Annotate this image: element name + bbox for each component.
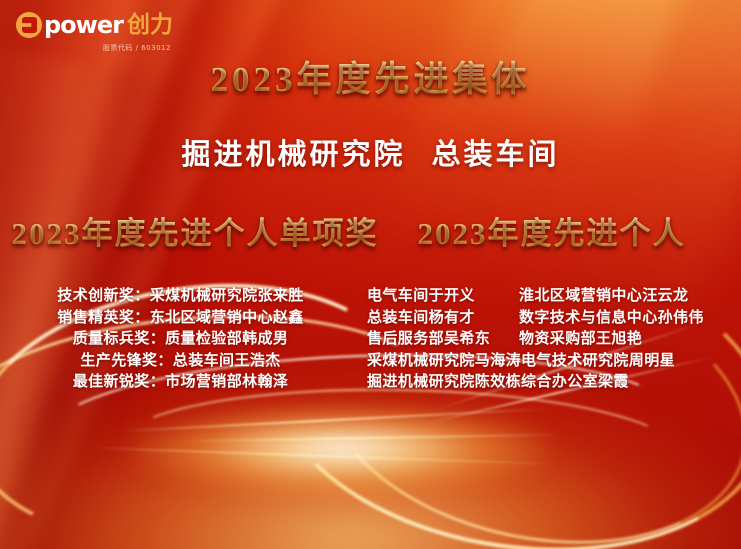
list-item: 质量标兵奖：质量检验部韩成男: [6, 329, 355, 351]
list-item-right: 物资采购部王旭艳: [519, 329, 711, 351]
list-item-left: 总装车间杨有才: [367, 308, 519, 330]
collective-winners: 掘进机械研究院总装车间: [0, 138, 741, 173]
list-item-right: 综合办公室梁霞: [521, 372, 711, 394]
award-poster: power 创力 股票代码 / 603012 2023年度先进集体 掘进机械研究…: [0, 0, 741, 549]
poster-content: 2023年度先进集体 掘进机械研究院总装车间 2023年度先进个人单项奖 202…: [0, 0, 741, 549]
list-item: 电气车间于开义 淮北区域营销中心汪云龙: [367, 286, 711, 308]
left-section-heading-text: 2023年度先进个人单项奖: [12, 216, 379, 251]
logo-wordmark-row: power 创力: [16, 12, 173, 38]
main-title: 2023年度先进集体: [0, 62, 741, 97]
stock-code: 股票代码 / 603012: [103, 43, 171, 53]
collective-winner-2: 总装车间: [432, 139, 560, 171]
main-title-text: 2023年度先进集体: [210, 60, 530, 99]
company-logo: power 创力 股票代码 / 603012: [16, 12, 173, 53]
right-section-heading: 2023年度先进个人: [390, 218, 741, 249]
c-power-mark-icon: [16, 12, 42, 38]
right-section-heading-text: 2023年度先进个人: [418, 216, 686, 251]
list-item-right: 数字技术与信息中心孙伟伟: [519, 308, 711, 330]
list-item: 最佳新锐奖：市场营销部林翰泽: [6, 372, 355, 394]
list-item-right: 淮北区域营销中心汪云龙: [519, 286, 711, 308]
list-item-left: 采煤机械研究院马海涛: [367, 351, 521, 373]
list-item: 售后服务部吴希东 物资采购部王旭艳: [367, 329, 711, 351]
list-item: 掘进机械研究院陈效栋 综合办公室梁霞: [367, 372, 711, 394]
list-item-left: 售后服务部吴希东: [367, 329, 519, 351]
list-item: 销售精英奖：东北区域营销中心赵鑫: [6, 308, 355, 330]
left-section-heading: 2023年度先进个人单项奖: [0, 218, 390, 249]
list-item: 采煤机械研究院马海涛 电气技术研究院周明星: [367, 351, 711, 373]
list-item-left: 电气车间于开义: [367, 286, 519, 308]
individual-award-list: 技术创新奖：采煤机械研究院张来胜 销售精英奖：东北区域营销中心赵鑫 质量标兵奖：…: [0, 286, 355, 394]
list-item: 生产先锋奖：总装车间王浩杰: [6, 351, 355, 373]
collective-winner-1: 掘进机械研究院: [181, 139, 405, 171]
logo-word: power: [44, 13, 123, 37]
logo-chinese-name: 创力: [127, 14, 173, 37]
list-item-right: 电气技术研究院周明星: [521, 351, 711, 373]
section-headings: 2023年度先进个人单项奖 2023年度先进个人: [0, 218, 741, 249]
advanced-individual-list: 电气车间于开义 淮北区域营销中心汪云龙 总装车间杨有才 数字技术与信息中心孙伟伟…: [355, 286, 741, 394]
list-item-left: 掘进机械研究院陈效栋: [367, 372, 521, 394]
list-item: 技术创新奖：采煤机械研究院张来胜: [6, 286, 355, 308]
winner-lists: 技术创新奖：采煤机械研究院张来胜 销售精英奖：东北区域营销中心赵鑫 质量标兵奖：…: [0, 286, 741, 394]
list-item: 总装车间杨有才 数字技术与信息中心孙伟伟: [367, 308, 711, 330]
